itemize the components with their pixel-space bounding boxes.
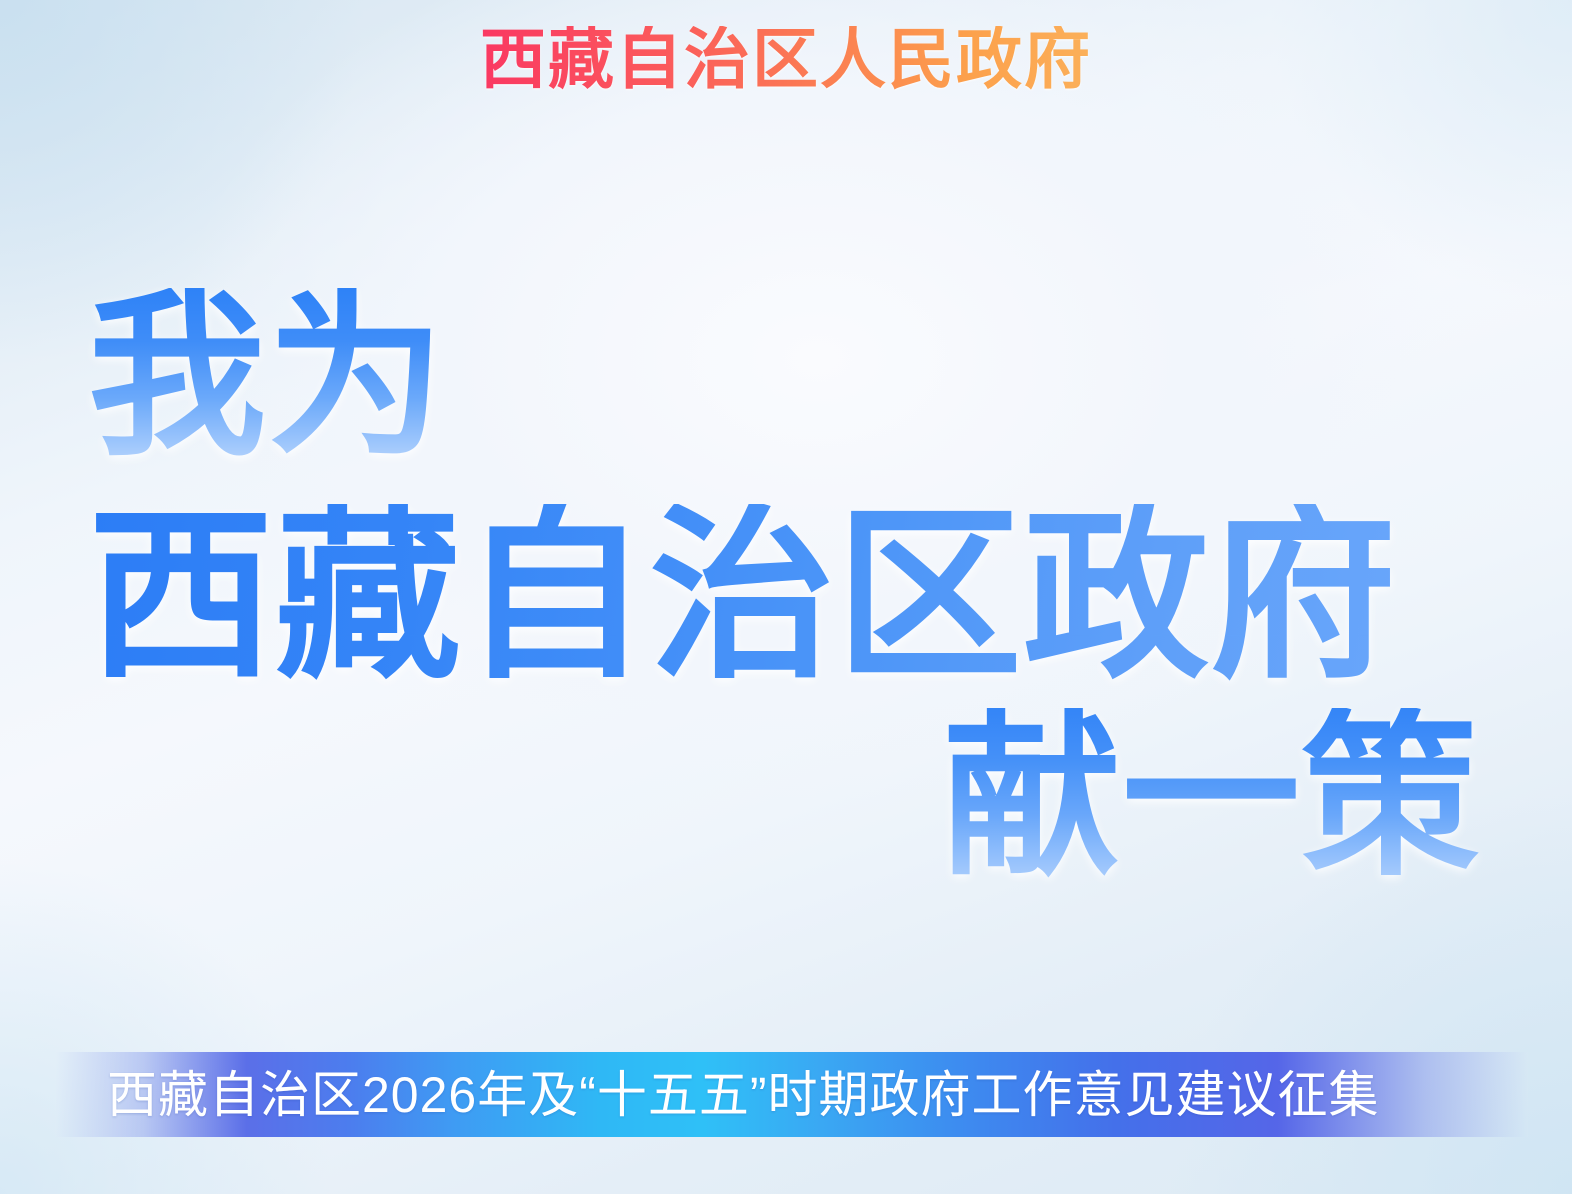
poster-canvas: 西藏自治区人民政府 我为 西藏自治区政府 献一策 西藏自治区2026年及“十五五… [0, 0, 1572, 1194]
headline-line-3: 献一策 [88, 708, 1480, 886]
headline-line-1: 我为 [88, 288, 1480, 466]
headline-line-2: 西藏自治区政府 [88, 504, 1480, 690]
bottom-banner: 西藏自治区2026年及“十五五”时期政府工作意见建议征集 [55, 1052, 1528, 1137]
organization-title: 西藏自治区人民政府 [480, 26, 1092, 92]
headline-block: 我为 西藏自治区政府 献一策 [88, 288, 1480, 886]
banner-subtitle: 西藏自治区2026年及“十五五”时期政府工作意见建议征集 [107, 1070, 1380, 1120]
org-header: 西藏自治区人民政府 [0, 26, 1572, 92]
